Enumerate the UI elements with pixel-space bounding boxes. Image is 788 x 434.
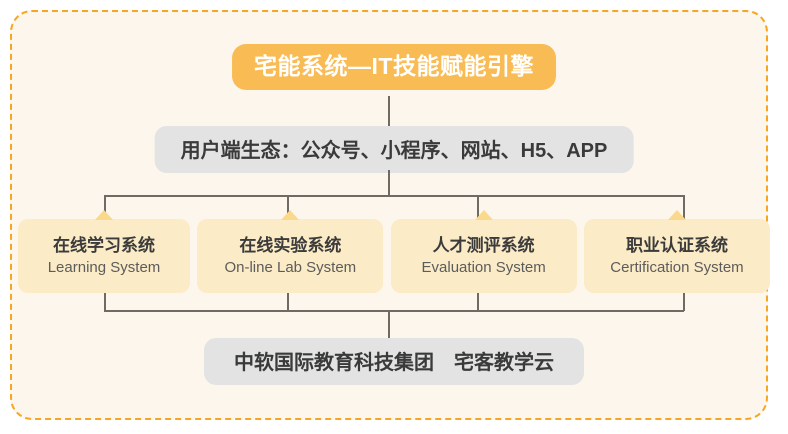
connector-ecosystem-to-bus	[388, 170, 390, 196]
triangle-pointer-icon	[281, 210, 299, 220]
triangle-pointer-icon	[668, 210, 686, 220]
ecosystem-bar: 用户端生态：公众号、小程序、网站、H5、APP	[155, 126, 634, 173]
card-title-en: On-line Lab System	[224, 258, 356, 278]
footer-organization-bar: 中软国际教育科技集团 宅客教学云	[204, 338, 584, 385]
card-title-cn: 在线学习系统	[53, 235, 155, 256]
card-title-en: Evaluation System	[422, 258, 546, 278]
card-title-en: Certification System	[610, 258, 743, 278]
connector-stub-card-1	[104, 293, 106, 311]
connector-stub-card-3	[477, 293, 479, 311]
card-title-cn: 在线实验系统	[239, 235, 341, 256]
diagram-title: 宅能系统—IT技能赋能引擎	[232, 44, 556, 90]
triangle-pointer-icon	[475, 210, 493, 220]
connector-top-bus	[104, 195, 684, 197]
connector-stub-card-2	[287, 293, 289, 311]
card-learning-system[interactable]: 在线学习系统 Learning System	[18, 219, 190, 293]
connector-bottom-bus	[104, 310, 684, 312]
card-title-cn: 职业认证系统	[626, 235, 728, 256]
connector-stub-card-4	[683, 293, 685, 311]
card-certification-system[interactable]: 职业认证系统 Certification System	[584, 219, 770, 293]
card-title-cn: 人才测评系统	[433, 235, 535, 256]
triangle-pointer-icon	[95, 210, 113, 220]
connector-bus-to-footer	[388, 310, 390, 338]
card-evaluation-system[interactable]: 人才测评系统 Evaluation System	[391, 219, 577, 293]
card-title-en: Learning System	[48, 258, 161, 278]
system-card-row: 在线学习系统 Learning System 在线实验系统 On-line La…	[18, 219, 770, 293]
diagram-canvas: 宅能系统—IT技能赋能引擎 用户端生态：公众号、小程序、网站、H5、APP 在线…	[0, 0, 788, 434]
card-online-lab-system[interactable]: 在线实验系统 On-line Lab System	[197, 219, 383, 293]
connector-title-to-ecosystem	[388, 96, 390, 126]
